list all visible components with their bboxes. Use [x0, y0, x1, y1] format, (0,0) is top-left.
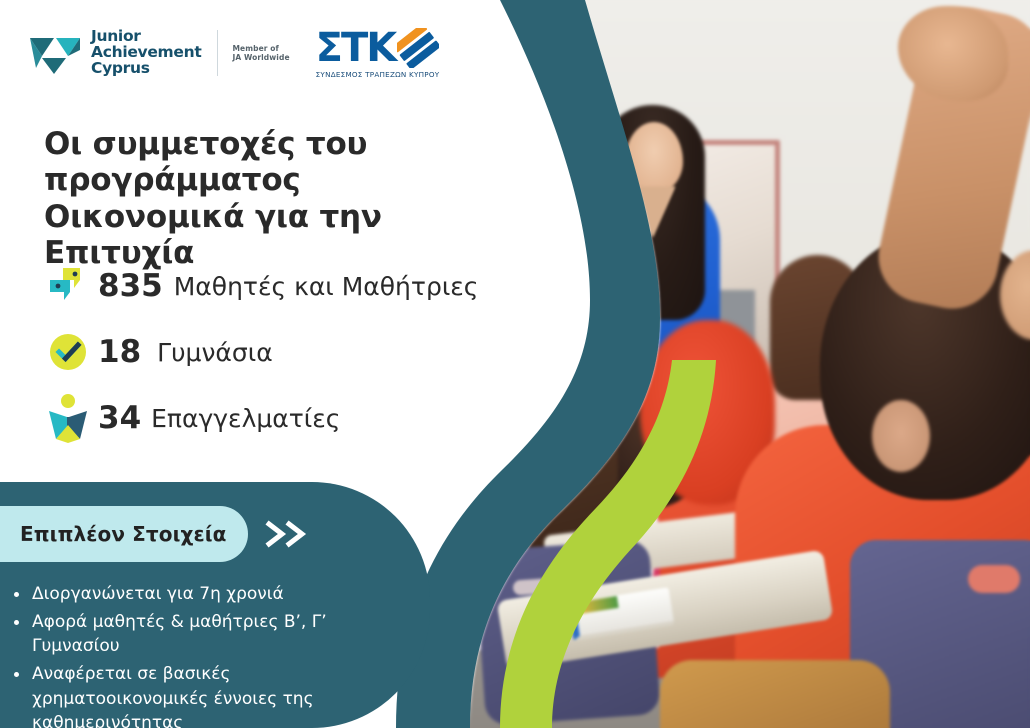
- logo-row: Junior Achievement Cyprus Member of JA W…: [28, 22, 439, 84]
- member-of-badge: Member of JA Worldwide: [232, 44, 289, 63]
- stat-item-professionals: 34 Επαγγελματίες: [44, 390, 514, 446]
- list-item: Διοργανώνεται για 7η χρονιά: [12, 582, 392, 607]
- stat-label-schools: Γυμνάσια: [157, 338, 273, 367]
- ja-wordmark: Junior Achievement Cyprus: [91, 29, 201, 77]
- stat-value-professionals: 34: [98, 400, 141, 436]
- ja-triangle-mark-icon: [28, 30, 82, 76]
- stk-logo: ΣΤΚ ΣΥΝΔΕΣΜΟΣ ΤΡΑΠΕΖΩΝ ΚΥΠΡΟΥ: [316, 28, 440, 79]
- list-item: Αναφέρεται σε βασικές χρηματοοικονομικές…: [12, 662, 392, 728]
- member-of-line1: Member of: [232, 44, 289, 53]
- page-title-line2: προγράμματος: [44, 162, 504, 198]
- stat-icon-wrap: [44, 393, 92, 443]
- stat-icon-wrap: [44, 333, 92, 371]
- photo-soft-focus: [440, 0, 1030, 728]
- person-arms-up-icon: [47, 393, 89, 443]
- stat-label-students: Μαθητές και Μαθήτριες: [174, 272, 479, 301]
- ja-word-line3: Cyprus: [91, 61, 201, 77]
- stk-subtitle: ΣΥΝΔΕΣΜΟΣ ΤΡΑΠΕΖΩΝ ΚΥΠΡΟΥ: [316, 70, 440, 79]
- students-badges-icon: [46, 264, 90, 308]
- stk-letters: ΣΤΚ: [316, 29, 396, 67]
- logo-divider: [217, 30, 218, 76]
- double-chevron-right-icon[interactable]: [265, 520, 315, 548]
- more-info-pill[interactable]: Επιπλέον Στοιχεία: [0, 506, 248, 562]
- stat-item-students: 835 Μαθητές και Μαθήτριες: [44, 258, 514, 314]
- stat-value-students: 835: [98, 268, 163, 304]
- list-item: Αφορά μαθητές & μαθήτριες Β’, Γ’ Γυμνασί…: [12, 610, 392, 659]
- stats-list: 835 Μαθητές και Μαθήτριες 18 Γυμνάσια: [44, 258, 514, 456]
- stat-icon-wrap: [44, 264, 92, 308]
- member-of-line2: JA Worldwide: [232, 53, 289, 62]
- stat-value-schools: 18: [98, 334, 141, 370]
- page-title: Οι συμμετοχές του προγράμματος Οικονομικ…: [44, 126, 504, 271]
- page-title-line1: Οι συμμετοχές του: [44, 126, 504, 162]
- infographic-poster: Junior Achievement Cyprus Member of JA W…: [0, 0, 1030, 728]
- stk-logo-top: ΣΤΚ: [316, 28, 440, 68]
- stat-label-professionals: Επαγγελματίες: [151, 404, 340, 433]
- more-info-bullet-list: Διοργανώνεται για 7η χρονιά Αφορά μαθητέ…: [12, 582, 392, 728]
- ja-cyprus-logo: Junior Achievement Cyprus: [28, 29, 201, 77]
- stk-bars-icon: [397, 28, 439, 68]
- left-content-column: Junior Achievement Cyprus Member of JA W…: [0, 0, 520, 728]
- more-info-pill-label: Επιπλέον Στοιχεία: [20, 522, 226, 546]
- more-info-panel: Επιπλέον Στοιχεία Διοργανώνεται για 7η χ…: [0, 482, 430, 728]
- check-circle-icon: [49, 333, 87, 371]
- stat-item-schools: 18 Γυμνάσια: [44, 324, 514, 380]
